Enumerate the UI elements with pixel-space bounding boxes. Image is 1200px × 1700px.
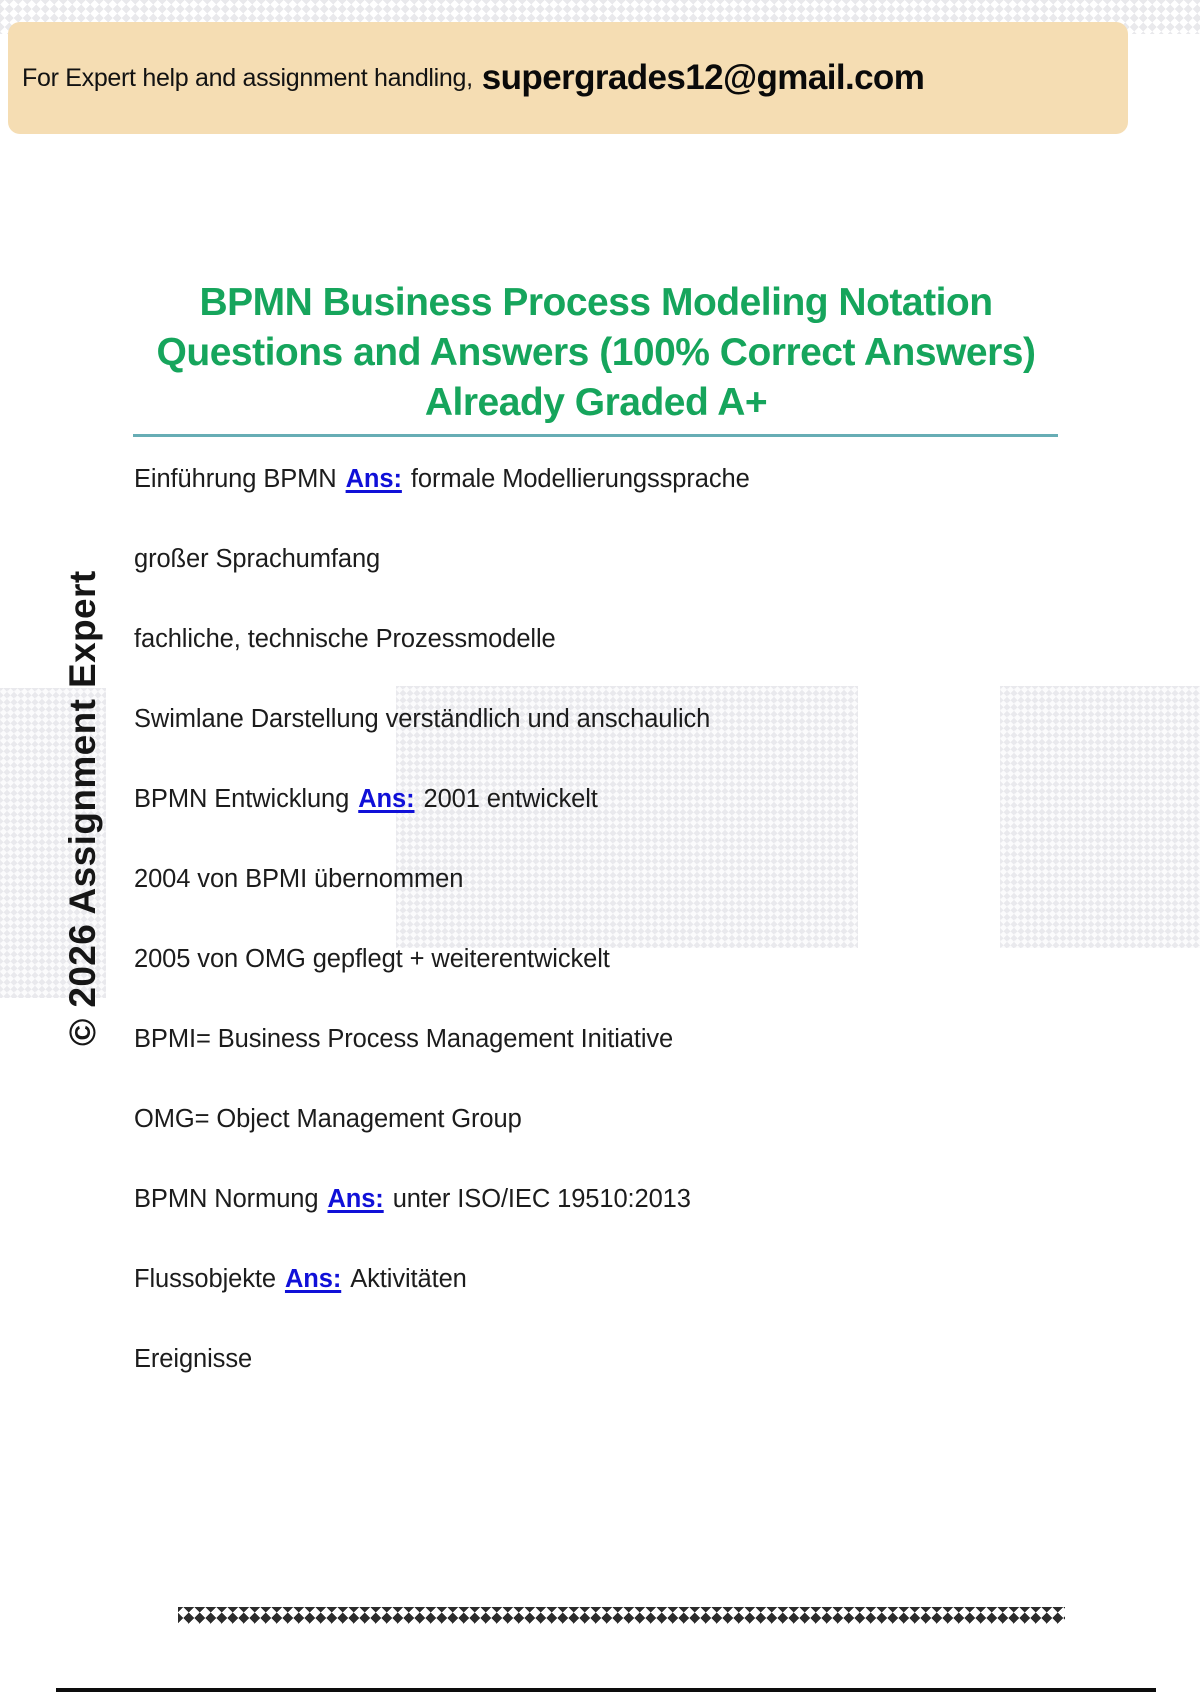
qa-line: OMG= Object Management Group: [134, 1102, 1094, 1182]
page-title: BPMN Business Process Modeling Notation …: [136, 278, 1056, 428]
qa-line: Ereignisse: [134, 1342, 1094, 1422]
qa-line-answer: formale Modellierungssprache: [411, 465, 750, 493]
qa-line-answer: unter ISO/IEC 19510:2013: [393, 1185, 691, 1213]
qa-line-prompt: BPMN Entwicklung: [134, 785, 349, 813]
qa-line-answer: Aktivitäten: [350, 1265, 467, 1293]
qa-line-prompt: Swimlane Darstellung verständlich und an…: [134, 705, 710, 733]
qa-line: BPMI= Business Process Management Initia…: [134, 1022, 1094, 1102]
qa-line-prompt: 2005 von OMG gepflegt + weiterentwickelt: [134, 945, 610, 973]
qa-line: Einführung BPMN Ans:formale Modellierung…: [134, 462, 1094, 542]
qa-line: 2004 von BPMI übernommen: [134, 862, 1094, 942]
answer-label[interactable]: Ans:: [285, 1265, 341, 1293]
qa-line: fachliche, technische Prozessmodelle: [134, 622, 1094, 702]
qa-content-list: Einführung BPMN Ans:formale Modellierung…: [134, 462, 1094, 1422]
expert-help-banner: For Expert help and assignment handling,…: [8, 22, 1128, 134]
qa-line: Flussobjekte Ans:Aktivitäten: [134, 1262, 1094, 1342]
qa-line-prompt: fachliche, technische Prozessmodelle: [134, 625, 556, 653]
footer-chevron-band: [178, 1607, 1065, 1624]
bottom-rule: [56, 1688, 1156, 1692]
answer-label[interactable]: Ans:: [327, 1185, 383, 1213]
qa-line: 2005 von OMG gepflegt + weiterentwickelt: [134, 942, 1094, 1022]
qa-line: BPMN Normung Ans:unter ISO/IEC 19510:201…: [134, 1182, 1094, 1262]
qa-line-prompt: BPMI= Business Process Management Initia…: [134, 1025, 673, 1053]
copyright-watermark: © 2026 Assignment Expert: [62, 576, 104, 1046]
qa-line-prompt: großer Sprachumfang: [134, 545, 380, 573]
qa-line-prompt: OMG= Object Management Group: [134, 1105, 522, 1133]
qa-line: Swimlane Darstellung verständlich und an…: [134, 702, 1094, 782]
title-underline-rule: [133, 434, 1058, 437]
answer-label[interactable]: Ans:: [358, 785, 414, 813]
answer-label[interactable]: Ans:: [346, 465, 402, 493]
qa-line: großer Sprachumfang: [134, 542, 1094, 622]
qa-line-answer: 2001 entwickelt: [424, 785, 598, 813]
qa-line-prompt: Einführung BPMN: [134, 465, 337, 493]
banner-lead-text: For Expert help and assignment handling,: [22, 64, 473, 93]
qa-line-prompt: Ereignisse: [134, 1345, 252, 1373]
qa-line-prompt: 2004 von BPMI übernommen: [134, 865, 463, 893]
qa-line-prompt: BPMN Normung: [134, 1185, 318, 1213]
qa-line-prompt: Flussobjekte: [134, 1265, 276, 1293]
qa-line: BPMN Entwicklung Ans:2001 entwickelt: [134, 782, 1094, 862]
banner-email-address[interactable]: supergrades12@gmail.com: [482, 58, 924, 98]
